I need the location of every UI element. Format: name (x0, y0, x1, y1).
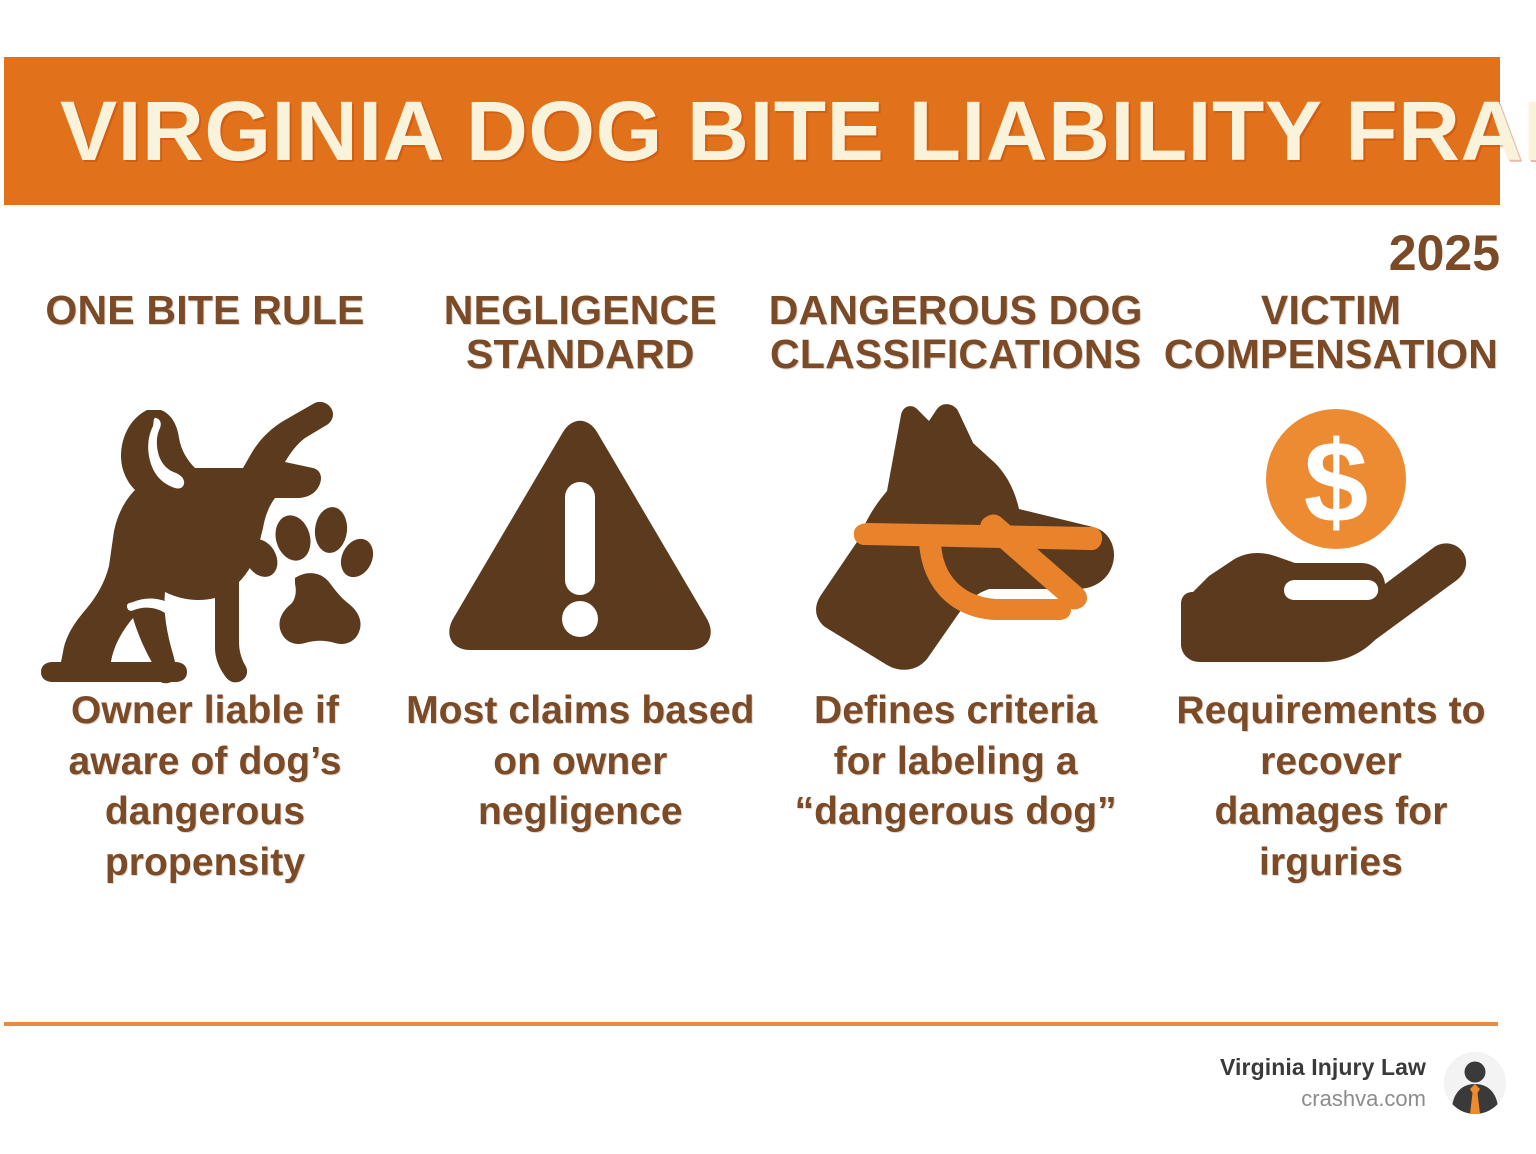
heading-line: CLASSIFICATIONS (769, 332, 1143, 376)
warning-triangle-icon (393, 386, 767, 686)
column-body-dangerous-dog-classifications: Defines criteria for labeling a “dangero… (781, 686, 1131, 838)
column-body-negligence-standard: Most claims based on owner negligence (395, 686, 765, 838)
column-dangerous-dog-classifications: DANGEROUS DOG CLASSIFICATIONS (769, 288, 1143, 838)
heading-line: COMPENSATION (1164, 332, 1498, 376)
column-victim-compensation: VICTIM COMPENSATION $ Requirements to re… (1144, 288, 1518, 889)
footer-branding: Virginia Injury Law crashva.com (1220, 1052, 1506, 1114)
heading-line: VICTIM (1164, 288, 1498, 332)
brand-url[interactable]: crashva.com (1301, 1085, 1426, 1113)
brand-name: Virginia Injury Law (1220, 1053, 1426, 1082)
column-heading-negligence-standard: NEGLIGENCE STANDARD (444, 288, 717, 384)
column-heading-victim-compensation: VICTIM COMPENSATION (1164, 288, 1498, 384)
columns-container: ONE BITE RULE (0, 288, 1536, 988)
footer-text-block: Virginia Injury Law crashva.com (1220, 1053, 1426, 1112)
hand-holding-dollar-coin-icon: $ (1144, 386, 1518, 686)
heading-line: STANDARD (444, 332, 717, 376)
heading-line: DANGEROUS DOG (769, 288, 1143, 332)
column-negligence-standard: NEGLIGENCE STANDARD Most claims based on… (393, 288, 767, 838)
heading-line: NEGLIGENCE (444, 288, 717, 332)
header-banner: VIRGINIA DOG BITE LIABILITY FRAMEWORK (4, 57, 1500, 205)
sitting-dog-with-pawprint-icon (18, 386, 392, 686)
infographic-canvas: VIRGINIA DOG BITE LIABILITY FRAMEWORK 20… (0, 0, 1536, 1154)
column-body-victim-compensation: Requirements to recover damages for irgu… (1166, 686, 1496, 889)
svg-text:$: $ (1304, 417, 1369, 547)
businessman-avatar-icon (1444, 1052, 1506, 1114)
heading-line: ONE BITE RULE (45, 288, 364, 332)
year-label: 2025 (1389, 228, 1500, 278)
column-one-bite-rule: ONE BITE RULE (18, 288, 392, 889)
page-title: VIRGINIA DOG BITE LIABILITY FRAMEWORK (60, 89, 1536, 173)
column-heading-dangerous-dog-classifications: DANGEROUS DOG CLASSIFICATIONS (769, 288, 1143, 384)
footer-divider (4, 1022, 1498, 1026)
muzzled-dog-head-icon (769, 386, 1143, 686)
column-body-one-bite-rule: Owner liable if aware of dog’s dangerous… (55, 686, 355, 889)
column-heading-one-bite-rule: ONE BITE RULE (45, 288, 364, 384)
